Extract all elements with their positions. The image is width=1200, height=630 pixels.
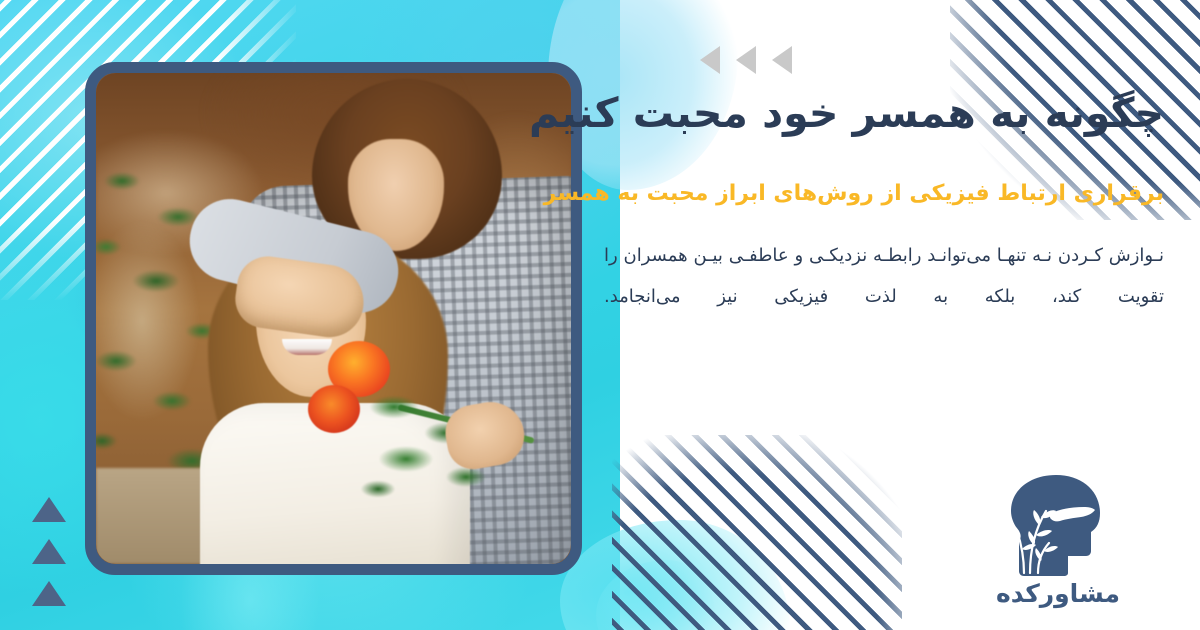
text-content-block: چگونه به همسر خود محبت کنیم برقراری ارتب… [604, 86, 1164, 317]
couple-photo [96, 73, 571, 564]
triangle-up-icon [32, 581, 66, 606]
logo-wordmark: مشاورکده [996, 579, 1120, 608]
triangle-up-icon [32, 539, 66, 564]
brand-logo[interactable]: مشاورکده [968, 473, 1148, 608]
photo-frame [85, 62, 582, 575]
head-profile-with-plants-icon [994, 473, 1122, 577]
triangle-left-icon [772, 46, 792, 74]
photo-rose-bloom-lower [308, 385, 360, 433]
triangle-up-icon [32, 497, 66, 522]
body-paragraph: نـوازش کـردن نـه تنهـا می‌توانـد رابطـه … [604, 236, 1164, 317]
top-arrow-decoration-group [700, 46, 792, 74]
left-triangle-decoration-group [32, 497, 66, 606]
poster-canvas: چگونه به همسر خود محبت کنیم برقراری ارتب… [0, 0, 1200, 630]
subtitle: برقراری ارتباط فیزیکی از روش‌های ابراز م… [604, 177, 1164, 210]
page-title: چگونه به همسر خود محبت کنیم [604, 86, 1164, 141]
triangle-left-icon [736, 46, 756, 74]
triangle-left-icon [700, 46, 720, 74]
